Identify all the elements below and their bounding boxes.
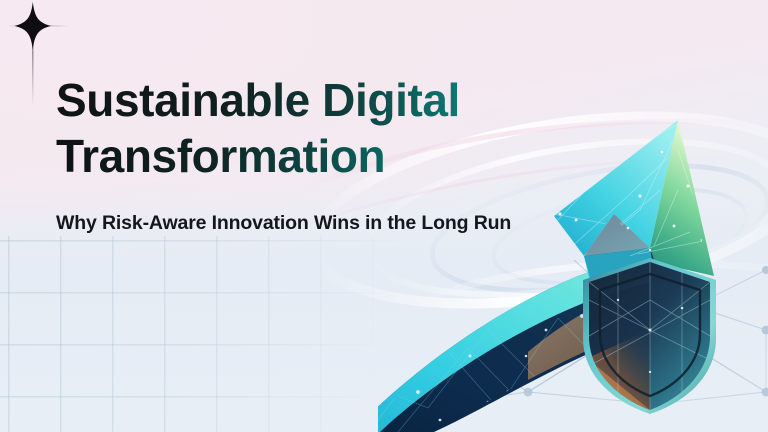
title-line-2: Transformation xyxy=(56,128,576,184)
security-shield-graphic xyxy=(578,258,716,420)
headline-block: Sustainable Digital Transformation Why R… xyxy=(56,72,576,235)
background-grid xyxy=(0,236,430,432)
slide-canvas: Sustainable Digital Transformation Why R… xyxy=(0,0,768,432)
network-mesh-nodes xyxy=(393,266,768,415)
title-line-1: Sustainable Digital xyxy=(56,72,576,128)
page-subtitle: Why Risk-Aware Innovation Wins in the Lo… xyxy=(56,212,576,235)
network-mesh-graphic xyxy=(398,260,766,410)
page-title: Sustainable Digital Transformation xyxy=(56,72,576,184)
